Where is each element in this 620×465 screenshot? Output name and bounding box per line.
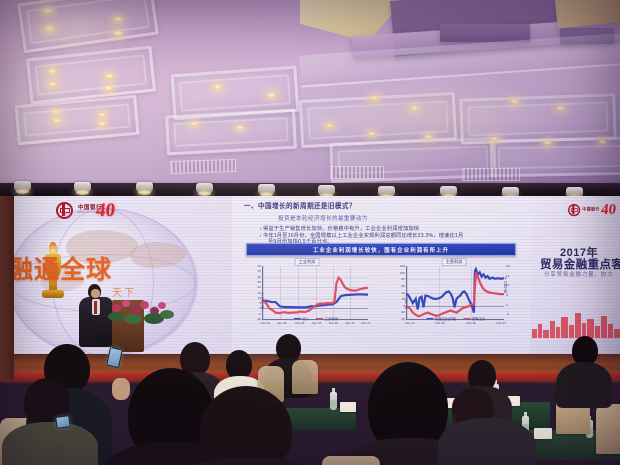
name-card: [534, 428, 552, 439]
x-tick: Oct-16: [466, 321, 475, 325]
chair-back: [322, 456, 380, 465]
downlight: [42, 8, 53, 14]
audience-body: [438, 418, 536, 465]
y-tick: 30: [258, 275, 261, 279]
ceiling-coffer-7: [329, 137, 496, 183]
speaker-tie: [94, 301, 97, 314]
slide-heading: 一、中国增长的新周期还是旧模式？: [244, 200, 356, 210]
ceiling-slab-panel-b: [560, 28, 614, 44]
downlight: [113, 31, 123, 36]
downlight: [105, 74, 114, 79]
foliage: [160, 310, 174, 319]
bank-of-china-mark: [568, 204, 580, 216]
foliage: [124, 314, 142, 324]
legend-label: 私营企业(右轴): [435, 316, 456, 321]
y-tick: -5: [258, 312, 261, 316]
ceiling-coffer-4: [171, 66, 300, 121]
y2-tick: 2: [506, 303, 508, 307]
downlight: [367, 132, 376, 136]
y-tick: 100: [400, 271, 405, 275]
audience-area: [0, 330, 620, 465]
downlight: [325, 124, 334, 128]
legend-swatch-red: [463, 318, 470, 320]
chart-industrial-profit: 工业利润 累计同比 % 40 35 30 25 20 15 10 5 0 -5 …: [240, 258, 374, 336]
y-tick: 5: [259, 301, 261, 305]
banner-subtitle: 分享贸易金融力量，协力: [544, 270, 613, 278]
speaker-face: [91, 289, 100, 298]
ceiling-slab-panel-a: [440, 24, 530, 42]
ceiling-warm-wedge: [300, 0, 410, 42]
flower: [130, 306, 140, 314]
stage-spotlight: [136, 182, 153, 193]
x-tick: Oct-15: [295, 321, 304, 325]
ceiling-coffer-1: [17, 0, 159, 53]
downlight: [267, 93, 276, 98]
slide-bullet-1: 得益于生产销售增长加快，价格稳中有升，工业企业利润增加加快: [260, 225, 419, 232]
x-tick: Oct-14: [260, 321, 269, 325]
conference-photo-scene: 中国银行 BANK OF CHINA 40 融通全球 天下 一、中国增长的新周期…: [0, 0, 620, 465]
ceiling-coffer-8: [459, 93, 617, 144]
y-tick: 0: [259, 306, 261, 310]
legend-swatch-blue: [293, 318, 300, 320]
x-tick: Oct-15: [435, 321, 444, 325]
x-tick: Oct-16: [329, 321, 338, 325]
downlight: [598, 140, 607, 144]
ceiling: [0, 0, 620, 192]
y-tick: 40: [258, 264, 261, 268]
y-tick: 15: [258, 291, 261, 295]
chart-series-svg: [407, 266, 504, 319]
anniversary-40-icon: 40: [600, 202, 617, 219]
legend-label: 工业利润: [325, 316, 338, 321]
slide-banner: 工业企业利润增长较快，国有企业利润有所上升: [246, 243, 516, 256]
chart-title: 主营利润: [442, 258, 467, 266]
light-glow: [330, 70, 550, 160]
stage-spotlight: [196, 183, 213, 194]
bank-of-china-mark: [56, 202, 73, 219]
bank-name-cn: 中国银行: [582, 208, 599, 212]
x-tick: Oct-14: [405, 321, 414, 325]
legend-item: 国有企业: [463, 316, 485, 321]
stage-spotlight: [318, 185, 335, 196]
downlight: [98, 122, 106, 126]
slide-banner-text: 工业企业利润增长较快，国有企业利润有所上升: [313, 246, 449, 254]
foliage: [108, 312, 124, 321]
downlight: [510, 99, 519, 104]
bank-of-china-wordmark: 中国银行: [582, 208, 599, 212]
x-tick: Oct-17: [496, 321, 505, 325]
downlight: [236, 126, 244, 130]
ceiling-coffer-6: [299, 92, 457, 148]
x-tick: Apr-16: [312, 321, 321, 325]
ceiling-coffer-9: [490, 137, 620, 178]
series-line-private: [407, 269, 504, 312]
ceiling-coffer-2: [26, 46, 156, 105]
x-tick: Apr-17: [345, 321, 354, 325]
y2-tick: 6: [506, 293, 508, 297]
downlight: [410, 106, 419, 111]
ceiling-vent-left: [170, 159, 236, 174]
y2-tick: 10: [506, 283, 509, 287]
ceiling-slab-dark: [390, 0, 620, 57]
downlight: [556, 106, 565, 111]
y-tick: 0: [403, 304, 405, 308]
legend-item: 收入: [293, 316, 308, 321]
anniversary-40-icon: 40: [95, 200, 116, 222]
downlight: [51, 110, 60, 114]
ceiling-soffit-band: [299, 33, 620, 88]
y-tick: -20: [401, 310, 405, 314]
y-tick: 60: [402, 284, 405, 288]
x-tick: Oct-17: [361, 321, 370, 325]
ceiling-coffer-5: [165, 109, 297, 156]
y-tick: 120: [400, 264, 405, 268]
ceiling-vent-right: [462, 168, 520, 181]
chart-title: 工业利润: [295, 258, 320, 266]
audience-body: [556, 362, 612, 408]
bank-of-china-logo: 中国银行: [568, 204, 600, 216]
y-tick: 20: [402, 297, 405, 301]
downlight: [190, 122, 198, 126]
chart-legend: 收入 工业利润: [293, 316, 337, 321]
chart-plot-area: 累计同比 % 累计同比 % 120 100 80 60 40 20 0 -20 …: [406, 266, 504, 320]
downlight: [370, 96, 379, 101]
y-tick: 35: [258, 269, 261, 273]
smartphone: [106, 347, 123, 368]
phone-screen: [56, 416, 69, 428]
downlight: [47, 69, 57, 74]
downlight: [543, 141, 552, 145]
hand: [112, 378, 130, 400]
flower: [158, 302, 166, 309]
legend-label: 国有企业: [472, 316, 485, 321]
ceiling-slab-gold: [555, 0, 620, 29]
legend-swatch-red: [316, 318, 323, 320]
flower: [112, 304, 121, 312]
y2-tick: -2: [506, 312, 509, 316]
audience-body: [2, 422, 98, 465]
chart-legend: 私营企业(右轴) 国有企业: [426, 316, 485, 321]
y-tick: 25: [258, 280, 261, 284]
legend-item: 工业利润: [316, 316, 338, 321]
downlight: [213, 85, 222, 90]
y-tick: 80: [402, 277, 405, 281]
smartphone: [55, 415, 71, 429]
ceiling-coffer-3: [14, 95, 139, 145]
legend-swatch-blue: [426, 318, 433, 320]
name-card: [340, 402, 356, 412]
torch-base: [42, 290, 64, 298]
y-tick: 10: [258, 296, 261, 300]
flower: [140, 301, 149, 309]
flower: [122, 300, 130, 307]
downlight: [48, 82, 57, 87]
downlight: [52, 119, 61, 123]
downlight: [98, 113, 106, 117]
downlight: [104, 86, 113, 91]
downlight: [490, 137, 499, 141]
chart-series-svg: [263, 266, 368, 319]
light-glow: [20, 0, 140, 60]
downlight: [44, 26, 55, 32]
flower-arrangement: [108, 296, 174, 332]
event-main-title: 融通全球: [8, 250, 208, 290]
stage-spotlight: [14, 181, 31, 192]
chart-operating-profit: 主营利润 累计同比 % 累计同比 % 120 100 80 60 40 20 0…: [384, 258, 524, 336]
y-tick: 40: [402, 291, 405, 295]
water-bottle: [330, 392, 337, 410]
chair-back: [596, 404, 620, 454]
chart-plot-area: 累计同比 % 40 35 30 25 20 15 10 5 0 -5 -10: [262, 266, 368, 320]
slide-subheading: 投资是本轮经济增长的最重要动力: [278, 214, 368, 222]
downlight: [113, 17, 123, 22]
stage-spotlight: [258, 184, 275, 195]
ceiling-slab-beam: [352, 16, 620, 59]
stage-spotlight: [74, 182, 91, 193]
chair-back: [292, 360, 318, 394]
downlight: [424, 135, 433, 139]
y2-tick: 14: [506, 274, 509, 278]
legend-label: 收入: [302, 316, 308, 321]
phone-screen: [107, 348, 121, 367]
legend-item: 私营企业(右轴): [426, 316, 456, 321]
y-tick: 20: [258, 285, 261, 289]
ceiling-vent-center: [330, 166, 384, 179]
y2-tick: 18: [506, 264, 509, 268]
x-tick: Apr-15: [277, 321, 286, 325]
